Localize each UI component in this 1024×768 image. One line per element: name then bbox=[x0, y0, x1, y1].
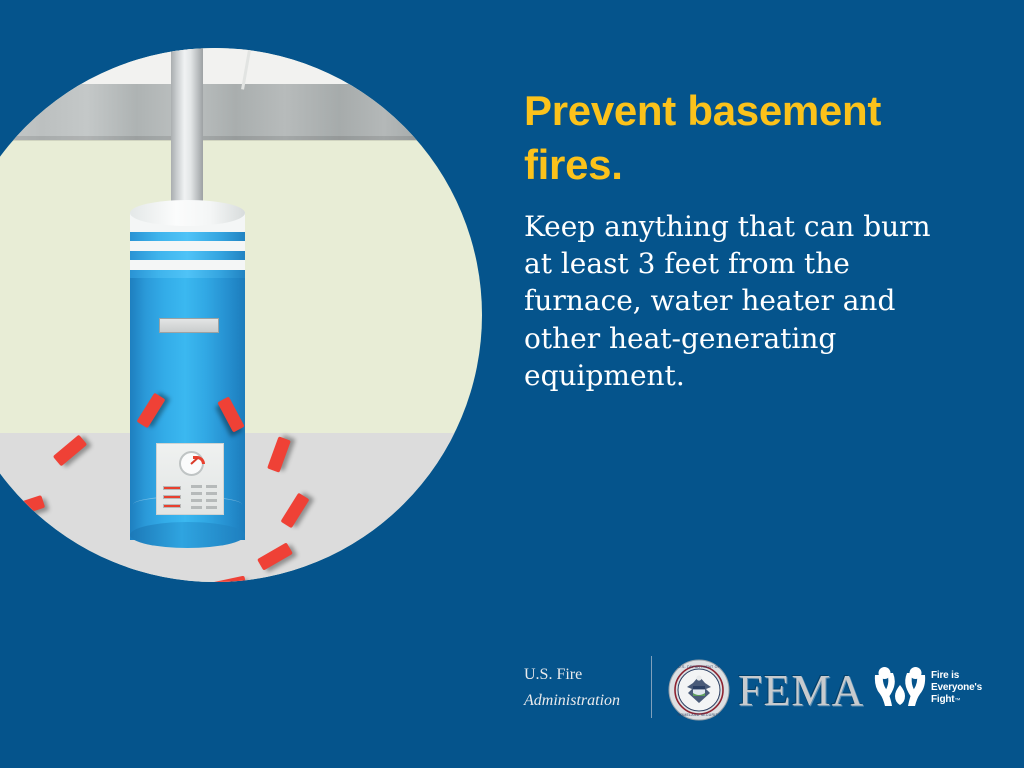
water-heater-top-cap bbox=[130, 200, 245, 226]
heater-band-2 bbox=[130, 251, 245, 260]
water-heater-illustration bbox=[0, 48, 482, 582]
clearance-dash-1 bbox=[53, 435, 87, 467]
svg-text:HOMELAND SECURITY: HOMELAND SECURITY bbox=[678, 713, 721, 717]
fef-line-2: Everyone's bbox=[931, 682, 982, 694]
fef-tagline: Fire is Everyone's Fight™ bbox=[931, 670, 982, 705]
fef-trademark: ™ bbox=[954, 698, 960, 704]
heater-band-1 bbox=[130, 232, 245, 241]
footer-divider bbox=[651, 656, 652, 718]
fef-figures-icon bbox=[871, 660, 929, 718]
clearance-dash-8 bbox=[280, 493, 309, 529]
fef-line-3: Fight bbox=[931, 694, 954, 705]
headline: Prevent basement fires. bbox=[524, 84, 954, 192]
usfa-logo-text: U.S. Fire Administration bbox=[524, 662, 644, 714]
body-copy: Keep anything that can burn at least 3 f… bbox=[524, 208, 944, 394]
water-heater-label-plate bbox=[159, 318, 219, 333]
usfa-line-2: Administration bbox=[524, 688, 644, 714]
clearance-dash-2 bbox=[9, 495, 45, 518]
clearance-dashed-ring bbox=[6, 400, 306, 550]
fef-line-3-wrap: Fight™ bbox=[931, 694, 982, 706]
ceiling-joist-beam bbox=[0, 84, 438, 140]
usfa-line-1: U.S. Fire bbox=[524, 662, 644, 688]
fef-line-1: Fire is bbox=[931, 670, 982, 682]
clearance-dash-10 bbox=[217, 396, 244, 432]
fire-is-everyones-fight-logo: Fire is Everyone's Fight™ bbox=[871, 660, 991, 720]
svg-text:U.S. DEPARTMENT OF: U.S. DEPARTMENT OF bbox=[678, 665, 721, 669]
clearance-dash-9 bbox=[267, 436, 291, 472]
poster-canvas: Prevent basement fires. Keep anything th… bbox=[0, 0, 1024, 768]
dhs-seal-icon: U.S. DEPARTMENT OF HOMELAND SECURITY bbox=[668, 659, 730, 721]
ceiling-shadow bbox=[0, 136, 438, 141]
fema-wordmark: FEMA bbox=[738, 669, 864, 713]
